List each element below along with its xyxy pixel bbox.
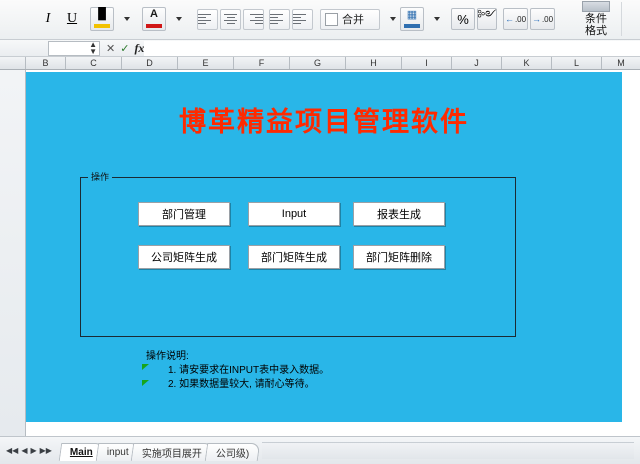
sheet-tab-label: 公司级) bbox=[216, 445, 249, 460]
insert-function-button[interactable]: fx bbox=[134, 41, 144, 56]
conditional-format-icon bbox=[582, 1, 610, 12]
worksheet: 博革精益项目管理软件 操作 部门管理 Input 报表生成 公司矩阵生成 部门矩… bbox=[0, 70, 640, 436]
instruction-item-2: 2. 如果数据量较大, 请耐心等待。 bbox=[168, 378, 329, 392]
formula-input[interactable] bbox=[144, 41, 640, 56]
font-color-dropdown[interactable] bbox=[167, 8, 189, 30]
name-box[interactable]: ▲▼ bbox=[48, 41, 100, 56]
conditional-format-button[interactable]: 条件 格式 bbox=[574, 1, 618, 37]
chevron-down-icon bbox=[176, 17, 182, 21]
arrow-left-icon: ← bbox=[505, 14, 514, 24]
chevron-down-icon bbox=[124, 17, 130, 21]
table-icon: ▦ bbox=[401, 8, 423, 21]
ribbon-toolbar: I U █ A 合并 bbox=[0, 0, 640, 40]
column-header-F[interactable]: F bbox=[234, 57, 290, 69]
accept-formula-button[interactable]: ✓ bbox=[120, 42, 129, 55]
first-sheet-button[interactable]: ◀◀ bbox=[6, 446, 18, 455]
increase-decimal-button[interactable]: ← .00 bbox=[503, 8, 528, 30]
merge-label: 合并 bbox=[342, 11, 364, 27]
ribbon-overflow[interactable] bbox=[621, 2, 638, 36]
instructions-block: 操作说明: 1. 请安要求在INPUT表中录入数据。 2. 如果数据量较大, 请… bbox=[146, 350, 329, 392]
button-company-matrix-generate[interactable]: 公司矩阵生成 bbox=[138, 245, 230, 269]
comma-style-button[interactable]: ༻ bbox=[477, 8, 497, 30]
column-header-H[interactable]: H bbox=[346, 57, 402, 69]
decrease-decimal-label: .00 bbox=[542, 15, 553, 24]
increase-indent-button[interactable] bbox=[292, 9, 313, 30]
formula-bar: ▲▼ ✕ ✓ fx bbox=[0, 40, 640, 57]
column-header-C[interactable]: C bbox=[66, 57, 122, 69]
button-input[interactable]: Input bbox=[248, 202, 340, 226]
tab-scroll-area[interactable] bbox=[262, 442, 634, 459]
sheet-tab-project-deploy[interactable]: 实施项目展开 bbox=[131, 443, 214, 461]
column-header-B[interactable]: B bbox=[26, 57, 66, 69]
font-color-button[interactable]: A bbox=[142, 7, 166, 31]
arrow-right-icon: → bbox=[532, 14, 541, 24]
underline-button[interactable]: U bbox=[61, 8, 83, 30]
formula-buttons: ✕ ✓ fx bbox=[106, 41, 144, 56]
tab-navigation: ◀◀ ◀ ▶ ▶▶ bbox=[6, 446, 52, 455]
last-sheet-button[interactable]: ▶▶ bbox=[40, 446, 52, 455]
align-left-button[interactable] bbox=[197, 9, 218, 30]
instructions-heading: 操作说明: bbox=[146, 350, 329, 364]
page-title: 博革精益项目管理软件 bbox=[26, 100, 622, 139]
sheet-tab-bar: ◀◀ ◀ ▶ ▶▶ Main input 实施项目展开 公司级) bbox=[0, 436, 640, 464]
merge-icon bbox=[325, 13, 338, 26]
sheet-tab-label: input bbox=[107, 447, 129, 458]
button-department-management[interactable]: 部门管理 bbox=[138, 202, 230, 226]
italic-button[interactable]: I bbox=[37, 8, 59, 30]
number-format-swatch bbox=[404, 24, 420, 28]
comment-marker-icon bbox=[142, 380, 149, 386]
merge-cells-button[interactable]: 合并 bbox=[320, 9, 380, 30]
column-header-J[interactable]: J bbox=[452, 57, 502, 69]
number-group: ▦ % ༻ ← .00 → .00 bbox=[400, 2, 555, 36]
decrease-indent-button[interactable] bbox=[269, 9, 290, 30]
align-right-button[interactable] bbox=[243, 9, 264, 30]
row-headers bbox=[0, 70, 26, 436]
sheet-tabs: Main input 实施项目展开 公司级) bbox=[60, 441, 254, 461]
number-format-dropdown[interactable] bbox=[425, 8, 447, 30]
number-format-button[interactable]: ▦ bbox=[400, 7, 424, 31]
prev-sheet-button[interactable]: ◀ bbox=[21, 446, 27, 455]
increase-decimal-label: .00 bbox=[515, 15, 526, 24]
column-header-K[interactable]: K bbox=[502, 57, 552, 69]
font-color-letter: A bbox=[143, 8, 165, 20]
fill-color-dropdown[interactable] bbox=[115, 8, 137, 30]
button-department-matrix-delete[interactable]: 部门矩阵删除 bbox=[353, 245, 445, 269]
excel-window: I U █ A 合并 bbox=[0, 0, 640, 464]
sheet-tab-label: Main bbox=[70, 447, 93, 458]
align-center-button[interactable] bbox=[220, 9, 241, 30]
chevron-down-icon bbox=[434, 17, 440, 21]
decrease-decimal-button[interactable]: → .00 bbox=[530, 8, 555, 30]
operations-group-label: 操作 bbox=[88, 170, 112, 183]
column-header-G[interactable]: G bbox=[290, 57, 346, 69]
font-color-swatch bbox=[146, 24, 162, 28]
column-header-M[interactable]: M bbox=[602, 57, 640, 69]
fill-color-swatch bbox=[94, 24, 110, 28]
column-header-L[interactable]: L bbox=[552, 57, 602, 69]
select-all-corner[interactable] bbox=[0, 57, 26, 69]
column-header-I[interactable]: I bbox=[402, 57, 452, 69]
fill-color-button[interactable]: █ bbox=[90, 7, 114, 31]
sheet-canvas: 博革精益项目管理软件 操作 部门管理 Input 报表生成 公司矩阵生成 部门矩… bbox=[26, 72, 622, 422]
cancel-formula-button[interactable]: ✕ bbox=[106, 42, 115, 55]
instruction-item-1: 1. 请安要求在INPUT表中录入数据。 bbox=[168, 364, 329, 378]
chevron-down-icon bbox=[390, 17, 396, 21]
percent-style-button[interactable]: % bbox=[451, 8, 475, 30]
conditional-format-line2: 格式 bbox=[585, 25, 607, 37]
sheet-tab-label: 实施项目展开 bbox=[142, 445, 202, 460]
paint-bucket-icon: █ bbox=[91, 8, 113, 20]
alignment-group: 合并 bbox=[196, 2, 404, 36]
column-header-D[interactable]: D bbox=[122, 57, 178, 69]
comment-marker-icon bbox=[142, 364, 149, 370]
font-group: I U █ A bbox=[36, 2, 190, 36]
button-department-matrix-generate[interactable]: 部门矩阵生成 bbox=[248, 245, 340, 269]
name-box-spinner-icon[interactable]: ▲▼ bbox=[89, 41, 97, 55]
next-sheet-button[interactable]: ▶ bbox=[30, 446, 36, 455]
button-report-generate[interactable]: 报表生成 bbox=[353, 202, 445, 226]
sheet-tab-company-level[interactable]: 公司级) bbox=[205, 443, 261, 461]
conditional-format-line1: 条件 bbox=[585, 13, 607, 25]
column-header-E[interactable]: E bbox=[178, 57, 234, 69]
column-headers: B C D E F G H I J K L M bbox=[0, 57, 640, 70]
